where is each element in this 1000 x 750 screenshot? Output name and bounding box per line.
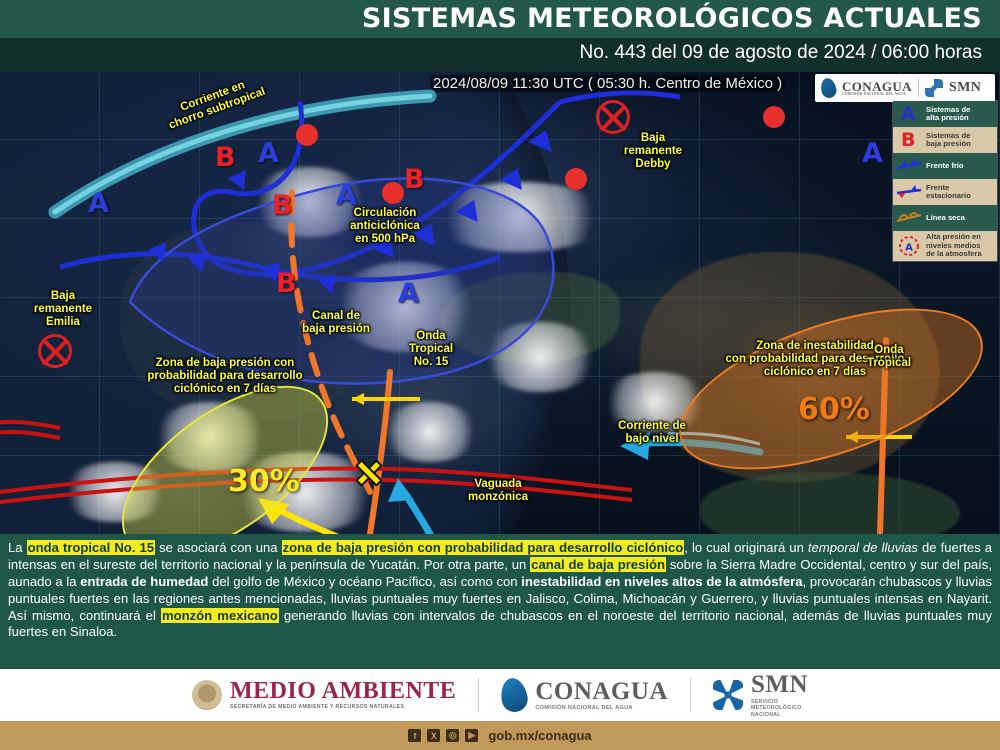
medio-ambiente-label: MEDIO AMBIENTE SECRETARÍA DE MEDIO AMBIE… <box>230 679 456 710</box>
legend-label: Frente estacionario <box>926 184 971 201</box>
smn-spiral-icon <box>713 680 743 710</box>
cloud-mass <box>480 322 600 392</box>
high-pressure-marker: A <box>88 190 109 217</box>
conagua-overlay-label: CONAGUA COMISIÓN NACIONAL DEL AGUA <box>842 80 912 97</box>
map-logo-overlay: CONAGUA COMISIÓN NACIONAL DEL AGUA SMN <box>815 74 995 102</box>
description-segment: La <box>8 540 27 555</box>
description-segment: canal de baja presión <box>530 557 666 572</box>
description-segment: onda tropical No. 15 <box>27 540 155 555</box>
low-center-dot <box>763 106 785 128</box>
description-segment: monzón mexicano <box>161 608 279 623</box>
medio-ambiente-logo: MEDIO AMBIENTE SECRETARÍA DE MEDIO AMBIE… <box>192 679 456 710</box>
low-pressure-marker: B <box>215 144 236 171</box>
svg-text:A: A <box>905 242 913 253</box>
description-segment: , lo cual originará un <box>684 540 808 555</box>
yellow-zone-percent: 30% <box>228 464 300 499</box>
description-segment: inestabilidad en niveles altos de la atm… <box>521 574 802 589</box>
high-pressure-A-icon: A <box>896 103 922 125</box>
smn-spiral-icon <box>925 79 943 97</box>
description-segment: se asociará con una <box>155 540 282 555</box>
description-panel: La onda tropical No. 15 se asociará con … <box>0 534 1000 669</box>
low-pressure-x-marker <box>354 458 384 488</box>
legend-label: Línea seca <box>926 214 965 223</box>
cloud-mass <box>380 402 480 462</box>
low-pressure-marker: B <box>276 270 297 297</box>
legend-label: Sistemas de baja presión <box>926 132 971 149</box>
high-pressure-marker: A <box>258 140 279 167</box>
low-center-dot <box>565 168 587 190</box>
cloud-mass <box>430 182 610 252</box>
divider <box>690 678 691 712</box>
instagram-icon[interactable]: ◎ <box>446 729 459 742</box>
legend-label: Frente frío <box>926 162 964 171</box>
weather-infographic: SISTEMAS METEOROLÓGICOS ACTUALES No. 443… <box>0 0 1000 750</box>
facebook-icon[interactable]: f <box>408 729 421 742</box>
mid-level-high-icon: A <box>896 235 922 257</box>
legend-item-dry-line: Línea seca <box>893 205 997 231</box>
page-title: SISTEMAS METEOROLÓGICOS ACTUALES <box>362 3 982 34</box>
high-pressure-marker: A <box>862 140 883 167</box>
satellite-timestamp: 2024/08/09 11:30 UTC ( 05:30 h. Centro d… <box>430 75 785 92</box>
description-segment: entrada de humedad <box>80 574 208 589</box>
national-seal-icon <box>192 680 222 710</box>
legend-item-low-pressure: B Sistemas de baja presión <box>893 127 997 153</box>
low-center-dot <box>296 124 318 146</box>
x-twitter-icon[interactable]: X <box>427 729 440 742</box>
bulletin-number-date: No. 443 del 09 de agosto de 2024 / 06:00… <box>580 42 982 64</box>
description-segment: del golfo de México y océano Pacífico, a… <box>208 574 521 589</box>
legend-item-stationary-front: Frente estacionario <box>893 179 997 205</box>
low-pressure-marker: B <box>404 166 425 193</box>
description-segment: zona de baja presión con probabilidad pa… <box>282 540 685 555</box>
smn-overlay-label: SMN <box>949 81 981 95</box>
smn-label: SMN SERVICIO METEOROLÓGICO NACIONAL <box>751 672 808 719</box>
cold-front-icon <box>896 155 922 177</box>
satellite-map[interactable]: 2024/08/09 11:30 UTC ( 05:30 h. Centro d… <box>0 72 1000 534</box>
high-pressure-marker: A <box>398 280 419 307</box>
legend-item-cold-front: Frente frío <box>893 153 997 179</box>
legend-label: Sistemas de alta presión <box>926 106 970 123</box>
legend-panel: A Sistemas de alta presión B Sistemas de… <box>892 100 998 262</box>
dry-line-icon <box>896 207 922 229</box>
remnant-low-emilia-icon <box>38 334 72 368</box>
low-center-dot <box>382 182 404 204</box>
divider <box>918 79 919 97</box>
footer-logos: MEDIO AMBIENTE SECRETARÍA DE MEDIO AMBIE… <box>0 669 1000 721</box>
conagua-logo: CONAGUA COMISIÓN NACIONAL DEL AGUA <box>501 678 668 712</box>
legend-label: Alta presión en niveles medios de la atm… <box>926 233 982 259</box>
low-pressure-marker: B <box>272 192 293 219</box>
divider <box>478 678 479 712</box>
description-segment: temporal de lluvias <box>808 540 918 555</box>
orange-zone-percent: 60% <box>798 392 870 427</box>
water-drop-icon <box>499 676 531 714</box>
low-pressure-B-icon: B <box>896 129 922 151</box>
youtube-icon[interactable]: ▶ <box>465 729 478 742</box>
social-bar: f X ◎ ▶ gob.mx/conagua <box>0 721 1000 750</box>
website-url[interactable]: gob.mx/conagua <box>488 728 591 743</box>
conagua-label: CONAGUA COMISIÓN NACIONAL DEL AGUA <box>535 679 668 712</box>
water-drop-icon <box>819 77 838 100</box>
legend-item-mid-level-high: A Alta presión en niveles medios de la a… <box>893 231 997 261</box>
stationary-front-icon <box>896 181 922 203</box>
remnant-low-debby-icon <box>596 100 630 134</box>
description-text: La onda tropical No. 15 se asociará con … <box>8 540 992 641</box>
smn-logo: SMN SERVICIO METEOROLÓGICO NACIONAL <box>713 672 808 719</box>
high-pressure-marker: A <box>336 182 357 209</box>
legend-item-high-pressure: A Sistemas de alta presión <box>893 101 997 127</box>
